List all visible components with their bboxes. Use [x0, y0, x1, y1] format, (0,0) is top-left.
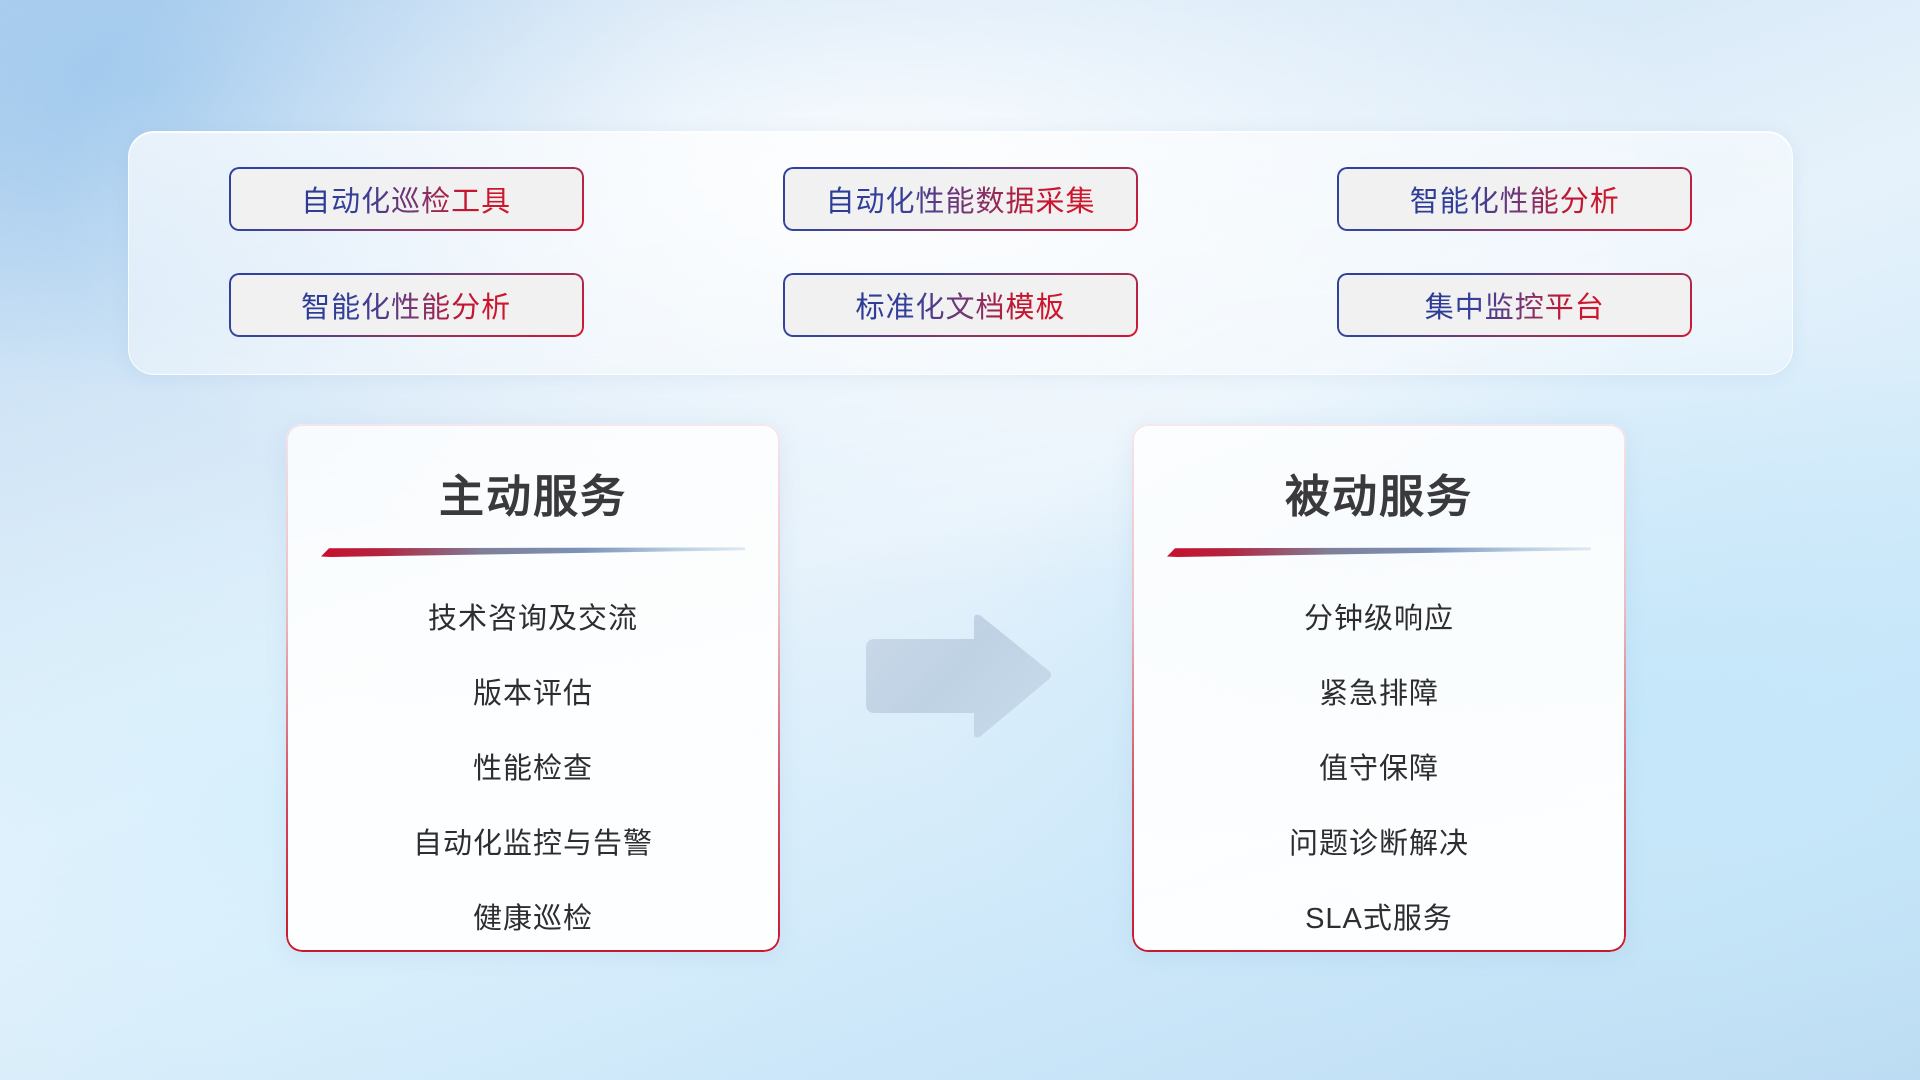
slide-canvas: 自动化巡检工具 自动化性能数据采集 智能化性能分析 智能化性能分析 标准化文档模…: [0, 0, 1920, 1080]
service-list-item: 性能检查: [286, 741, 780, 798]
capability-pill-6[interactable]: 集中监控平台: [1337, 273, 1692, 337]
service-list-item: 值守保障: [1132, 741, 1626, 798]
card-title: 主动服务: [286, 460, 780, 525]
title-underline-rule: [321, 547, 745, 557]
service-list-item: 自动化监控与告警: [286, 816, 780, 873]
service-item-list: 技术咨询及交流 版本评估 性能检查 自动化监控与告警 健康巡检: [286, 591, 780, 948]
service-card-active: 主动服务 技术咨询及交流 版本评估 性能检查: [286, 424, 780, 952]
service-list-item: 问题诊断解决: [1132, 816, 1626, 873]
service-list-item: 版本评估: [286, 666, 780, 723]
service-list-item: 紧急排障: [1132, 666, 1626, 723]
service-list-item: 分钟级响应: [1132, 591, 1626, 648]
capability-pill-label: 自动化性能数据采集: [825, 178, 1095, 220]
capability-pill-label: 集中监控平台: [1425, 284, 1605, 326]
service-list-item: 健康巡检: [286, 891, 780, 948]
capability-panel: 自动化巡检工具 自动化性能数据采集 智能化性能分析 智能化性能分析 标准化文档模…: [128, 131, 1793, 375]
capability-pill-3[interactable]: 智能化性能分析: [1337, 167, 1692, 231]
service-item-list: 分钟级响应 紧急排障 值守保障 问题诊断解决 SLA式服务: [1132, 591, 1626, 948]
service-list-item: SLA式服务: [1132, 891, 1626, 948]
capability-pill-label: 智能化性能分析: [301, 284, 511, 326]
service-card-passive: 被动服务 分钟级响应 紧急排障 值守保障: [1132, 424, 1626, 952]
capability-pill-5[interactable]: 标准化文档模板: [783, 273, 1138, 337]
capability-pill-label: 标准化文档模板: [855, 284, 1065, 326]
title-underline-rule: [1167, 547, 1591, 557]
arrow-right-icon: [862, 612, 1054, 742]
capability-pill-label: 智能化性能分析: [1410, 178, 1620, 220]
capability-pill-4[interactable]: 智能化性能分析: [229, 273, 584, 337]
capability-pill-label: 自动化巡检工具: [301, 178, 511, 220]
capability-pill-1[interactable]: 自动化巡检工具: [229, 167, 584, 231]
service-list-item: 技术咨询及交流: [286, 591, 780, 648]
capability-pill-2[interactable]: 自动化性能数据采集: [783, 167, 1138, 231]
card-title: 被动服务: [1132, 460, 1626, 525]
